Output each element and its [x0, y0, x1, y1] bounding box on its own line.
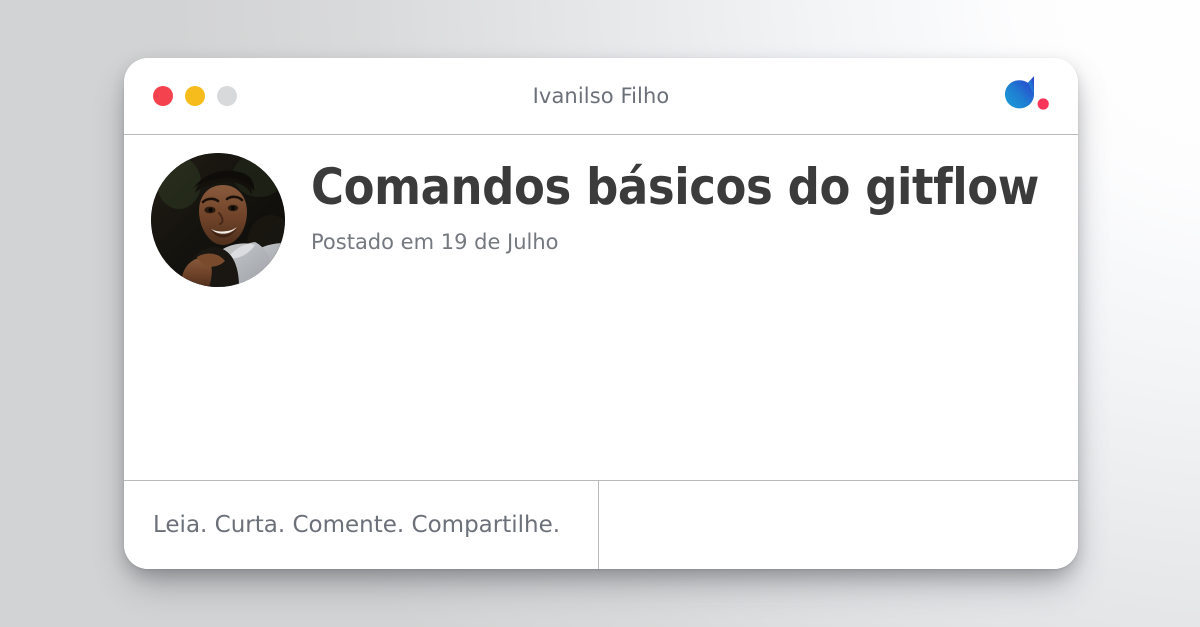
close-button[interactable] — [153, 86, 173, 106]
footer-left-cell: Leia. Curta. Comente. Compartilhe. — [124, 481, 599, 569]
browser-window-card: Ivanilso Filho — [124, 58, 1078, 569]
brand-logo-icon — [1002, 74, 1056, 118]
window-controls — [153, 58, 237, 134]
post-content-area: Comandos básicos do gitflow Postado em 1… — [124, 135, 1078, 480]
maximize-button[interactable] — [217, 86, 237, 106]
footer-right-cell — [599, 481, 1078, 569]
post-header: Comandos básicos do gitflow Postado em 1… — [151, 153, 1039, 287]
post-title: Comandos básicos do gitflow — [311, 160, 1039, 214]
window-title: Ivanilso Filho — [124, 84, 1078, 108]
window-titlebar: Ivanilso Filho — [124, 58, 1078, 135]
post-date: Postado em 19 de Julho — [311, 230, 1039, 254]
card-footer: Leia. Curta. Comente. Compartilhe. — [124, 480, 1078, 569]
minimize-button[interactable] — [185, 86, 205, 106]
post-text-block: Comandos básicos do gitflow Postado em 1… — [311, 153, 1039, 254]
avatar — [151, 153, 285, 287]
footer-tagline: Leia. Curta. Comente. Compartilhe. — [153, 512, 560, 538]
